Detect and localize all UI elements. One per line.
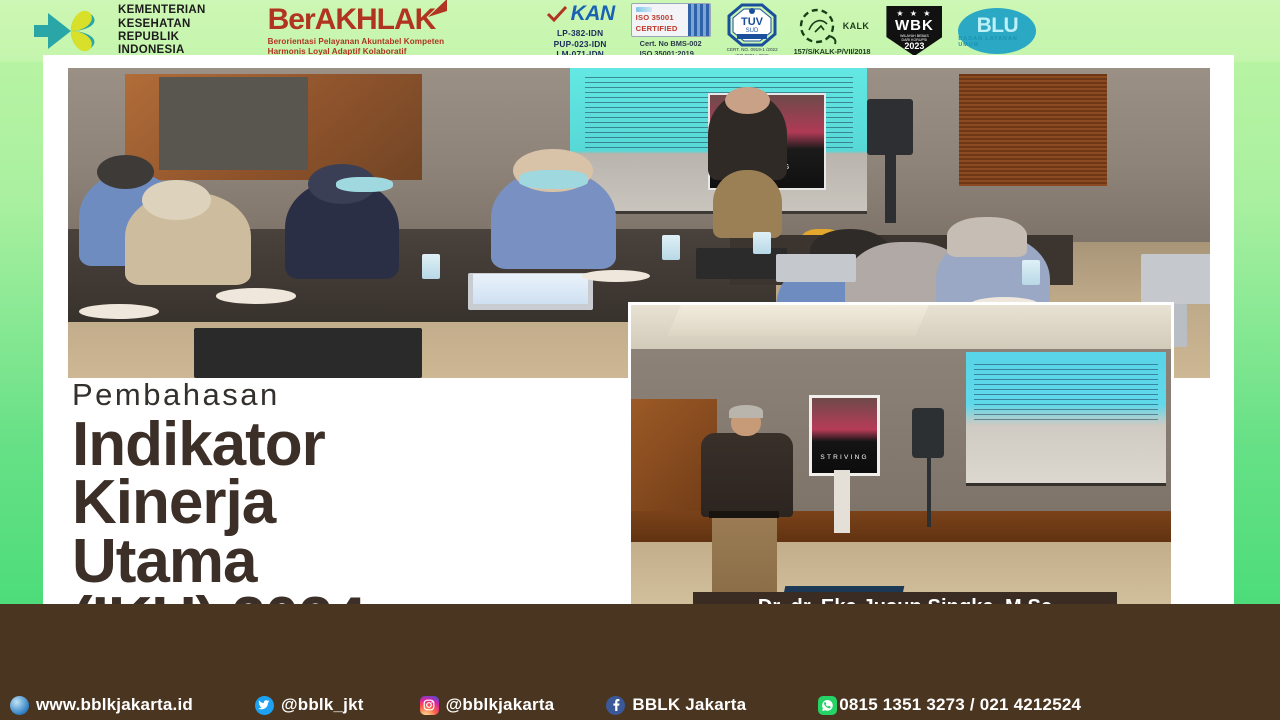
cert-kalk: KALK 157/S/KALK-P/VII/2018 — [794, 6, 871, 56]
iso-tick-mark — [636, 7, 652, 12]
svg-text:TUV: TUV — [741, 16, 764, 28]
speaker-photo: STRIVING — [628, 302, 1174, 620]
photo-face-mask — [336, 177, 393, 193]
kalk-wordmark: KALK — [843, 21, 870, 31]
photo-plate — [79, 304, 159, 320]
photo-speaker-tripod — [885, 155, 896, 223]
iso-badge-line2: CERTIFIED — [636, 25, 685, 34]
footer-whatsapp[interactable]: 0815 1351 3273 / 021 4212524 — [818, 695, 1081, 715]
inset-screen-content — [974, 360, 1158, 420]
wbk-year: 2023 — [904, 42, 924, 52]
photo-loudspeaker — [867, 99, 913, 155]
inset-poster-stand — [834, 470, 850, 532]
photo-laptop — [696, 248, 787, 279]
title-eyebrow: Pembahasan — [72, 378, 632, 412]
photo-water-bottle — [662, 235, 680, 260]
cert-kan: KAN LP-382-IDN PUP-023-IDN LM-071-IDN — [546, 2, 615, 61]
photo-wood-panel-inner — [159, 77, 307, 170]
photo-laptop — [776, 254, 856, 282]
svg-text:SUD: SUD — [746, 28, 759, 34]
instagram-icon — [420, 696, 439, 715]
inset-speaker-belt — [709, 511, 779, 518]
poster-canvas: KEMENTERIAN KESEHATAN REPUBLIK INDONESIA… — [0, 0, 1280, 720]
berakhlak-tagline: Berorientasi Pelayanan Akuntabel Kompete… — [268, 37, 508, 57]
footer-instagram-label: @bblkjakarta — [446, 695, 555, 715]
iso-badge-icon: ISO 35001 CERTIFIED — [631, 3, 711, 37]
photo-participant-hijab — [947, 217, 1027, 257]
photo-laptop — [1141, 254, 1210, 304]
inset-striving-poster: STRIVING — [809, 395, 880, 476]
cert-blu: BLU BADAN LAYANAN UMUM — [958, 8, 1036, 54]
inset-ceiling-recess — [667, 305, 929, 336]
inset-loudspeaker — [912, 408, 944, 458]
inset-speaker-body — [701, 433, 793, 517]
globe-icon — [10, 696, 29, 715]
iso-badge-line1: ISO 35001 — [636, 14, 685, 23]
photo-plate — [216, 288, 296, 304]
footer-website[interactable]: www.bblkjakarta.id — [10, 695, 193, 715]
berakhlak-arrow-icon — [425, 0, 451, 23]
iso-grid-pattern — [688, 4, 710, 36]
inset-striving-poster-text: STRIVING — [812, 454, 877, 461]
twitter-icon — [255, 696, 274, 715]
check-icon — [546, 6, 568, 22]
footer-contact-bar: www.bblkjakarta.id @bblk_jkt @bblkjakart… — [0, 690, 1280, 720]
photo-monitor — [194, 328, 422, 378]
kan-wordmark: KAN — [571, 2, 615, 26]
ministry-name: KEMENTERIAN KESEHATAN REPUBLIK INDONESIA — [118, 4, 206, 58]
cert-tuv: TUV SUD CERT. NO. 0919-1 /2022 ISO 9001 … — [727, 3, 778, 58]
facebook-icon — [606, 696, 625, 715]
tuv-sud-icon: TUV SUD — [727, 3, 777, 47]
photo-plate — [582, 270, 651, 282]
ministry-logo-group: KEMENTERIAN KESEHATAN REPUBLIK INDONESIA — [34, 3, 206, 59]
photo-presenter-legs — [713, 170, 782, 238]
kemenkes-logo-icon — [34, 3, 108, 59]
inset-speaker-legs — [712, 514, 777, 601]
photo-water-bottle — [422, 254, 440, 279]
footer-facebook[interactable]: BBLK Jakarta — [606, 695, 746, 715]
footer-instagram[interactable]: @bblkjakarta — [420, 695, 555, 715]
certification-logos: KAN LP-382-IDN PUP-023-IDN LM-071-IDN IS… — [546, 2, 1037, 61]
berakhlak-wordmark: BerAKHLAK — [268, 5, 436, 35]
blu-wordmark: BLU — [977, 15, 1019, 36]
whatsapp-icon — [818, 696, 837, 715]
photo-water-bottle — [753, 232, 771, 254]
footer-twitter[interactable]: @bblk_jkt — [255, 695, 364, 715]
inset-speaker-tripod — [927, 458, 931, 527]
header-bar: KEMENTERIAN KESEHATAN REPUBLIK INDONESIA… — [0, 0, 1280, 62]
wbk-wordmark: WBK — [895, 18, 934, 34]
photo-laptop — [468, 273, 594, 310]
photo-wood-door — [959, 74, 1107, 186]
inset-speaker-hair — [729, 405, 762, 418]
photo-participant-head — [97, 155, 154, 189]
berakhlak-logo: BerAKHLAK Berorientasi Pelayanan Akuntab… — [268, 5, 508, 57]
cert-wbk: ★ ★ ★ WBK WILAYAH BEBAS DARI KORUPSI 202… — [886, 6, 942, 56]
blu-subtitle: BADAN LAYANAN UMUM — [958, 36, 1036, 48]
footer-website-label: www.bblkjakarta.id — [36, 695, 193, 715]
photo-participant-head — [142, 180, 211, 220]
footer-facebook-label: BBLK Jakarta — [632, 695, 746, 715]
kalk-emblem-icon — [795, 6, 841, 46]
cert-iso: ISO 35001 CERTIFIED Cert. No BMS-002 ISO… — [631, 3, 711, 58]
photo-water-bottle — [1022, 260, 1040, 285]
inset-projection-screen — [966, 352, 1166, 486]
photo-face-mask — [519, 170, 588, 189]
footer-phone-label: 0815 1351 3273 / 021 4212524 — [839, 695, 1081, 715]
footer-twitter-label: @bblk_jkt — [281, 695, 364, 715]
